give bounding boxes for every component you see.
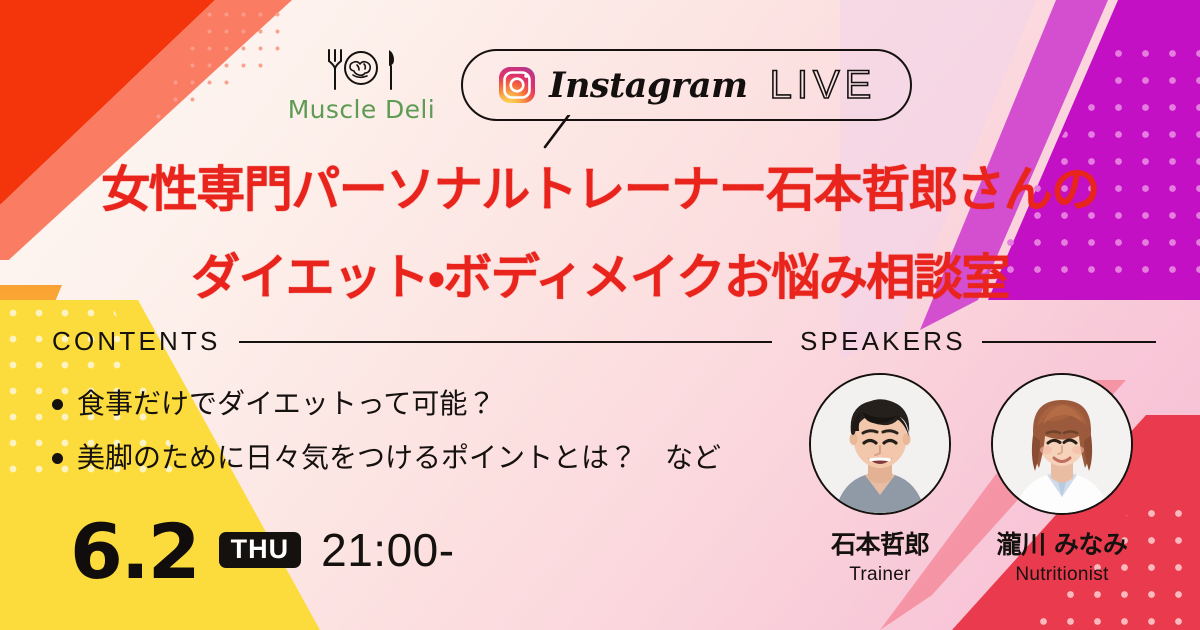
live-announcement-banner: Muscle Deli Ins (0, 0, 1200, 630)
speech-bubble-tail-icon (539, 115, 579, 149)
female-nutritionist-portrait-icon (993, 375, 1131, 513)
avatar (991, 373, 1133, 515)
speakers-heading: SPEAKERS (800, 326, 966, 357)
live-label: LIVE (770, 63, 877, 108)
day-of-week-badge: THU (219, 532, 302, 568)
list-item: 食事だけでダイエットって可能？ (52, 383, 772, 425)
speakers-list: 石本哲郎 Trainer (800, 373, 1156, 586)
speaker-card-nutritionist: 瀧川 みなみ Nutritionist (982, 373, 1142, 586)
event-time: 21:00- (321, 523, 454, 577)
event-date: 6.2 (70, 516, 199, 588)
speakers-heading-row: SPEAKERS (800, 326, 1156, 357)
speaker-name: 石本哲郎 (800, 525, 960, 561)
speakers-heading-rule (982, 341, 1156, 343)
bullet-dot-icon (52, 399, 63, 410)
fork-plate-muscle-knife-icon (319, 47, 403, 93)
speakers-section: SPEAKERS (800, 326, 1156, 586)
instagram-wordmark: Instagram (549, 65, 748, 106)
speaker-role: Trainer (800, 564, 960, 586)
contents-list: 食事だけでダイエットって可能？ 美脚のために日々気をつけるポイントとは？ など (52, 383, 772, 479)
bullet-dot-icon (52, 453, 63, 464)
speaker-card-trainer: 石本哲郎 Trainer (800, 373, 960, 586)
avatar (809, 373, 951, 515)
list-item: 美脚のために日々気をつけるポイントとは？ など (52, 437, 772, 479)
list-item-label: 美脚のために日々気をつけるポイントとは？ など (77, 437, 721, 479)
instagram-live-badge: Instagram LIVE (461, 49, 912, 121)
speaker-role: Nutritionist (982, 564, 1142, 586)
muscle-deli-wordmark: Muscle Deli (288, 95, 435, 124)
instagram-camera-icon (497, 65, 537, 105)
male-trainer-portrait-icon (811, 375, 949, 513)
schedule-row: 6.2 THU 21:00- (70, 516, 455, 588)
muscle-deli-logo: Muscle Deli (288, 47, 435, 124)
title-line-1: 女性専門パーソナルトレーナー石本哲郎さんの (0, 146, 1200, 234)
contents-heading-row: CONTENTS (52, 326, 772, 357)
banner-header: Muscle Deli Ins (0, 30, 1200, 140)
contents-heading-rule (239, 341, 772, 343)
contents-section: CONTENTS 食事だけでダイエットって可能？ 美脚のために日々気をつけるポイ… (52, 326, 772, 491)
contents-heading: CONTENTS (52, 326, 221, 357)
speaker-name: 瀧川 みなみ (982, 525, 1142, 561)
list-item-label: 食事だけでダイエットって可能？ (77, 383, 495, 425)
title-line-2: ダイエット・ボディメイクお悩み相談室 (0, 234, 1200, 322)
page-title: 女性専門パーソナルトレーナー石本哲郎さんの ダイエット・ボディメイクお悩み相談室 (0, 146, 1200, 322)
